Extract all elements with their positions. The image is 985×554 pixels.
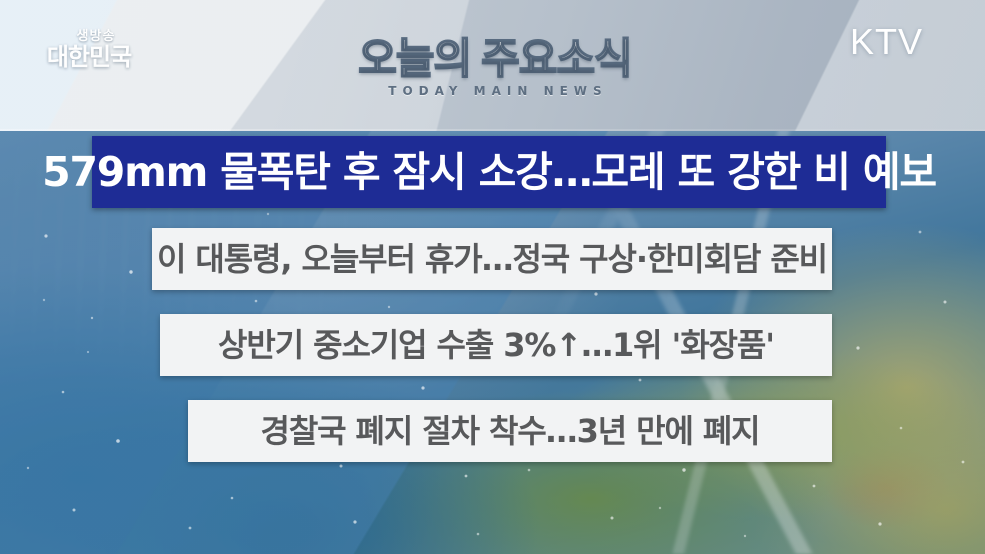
program-title-primary: 오늘의	[358, 34, 471, 83]
headline-item-2: 상반기 중소기업 수출 3%↑…1위 '화장품'	[160, 314, 832, 376]
channel-logo-ktv: KTV	[850, 24, 923, 60]
program-subtitle: TODAY MAIN NEWS	[335, 84, 655, 98]
live-program-title: 대한민국	[24, 45, 154, 69]
live-badge-label: 생방송	[38, 30, 154, 43]
banner-bottom-divider	[0, 129, 985, 131]
headline-main-text: 579mm 물폭탄 후 잠시 소강…모레 또 강한 비 예보	[42, 152, 936, 193]
broadcast-screen: 생방송 대한민국 오늘의주요소식 TODAY MAIN NEWS KTV 579…	[0, 0, 985, 554]
headline-item-2-text: 상반기 중소기업 수출 3%↑…1위 '화장품'	[218, 329, 774, 361]
headline-main: 579mm 물폭탄 후 잠시 소강…모레 또 강한 비 예보	[92, 136, 886, 208]
live-program-logo: 생방송 대한민국	[24, 30, 154, 69]
program-title-block: 오늘의주요소식 TODAY MAIN NEWS	[335, 38, 655, 98]
program-title-accent: 주요소식	[481, 34, 632, 83]
headline-item-1: 이 대통령, 오늘부터 휴가…정국 구상·한미회담 준비	[152, 228, 832, 290]
headline-item-3-text: 경찰국 폐지 절차 착수…3년 만에 폐지	[260, 415, 759, 447]
page-title: 오늘의주요소식	[335, 38, 655, 81]
headline-item-1-text: 이 대통령, 오늘부터 휴가…정국 구상·한미회담 준비	[157, 243, 827, 275]
headline-item-3: 경찰국 폐지 절차 착수…3년 만에 폐지	[188, 400, 832, 462]
